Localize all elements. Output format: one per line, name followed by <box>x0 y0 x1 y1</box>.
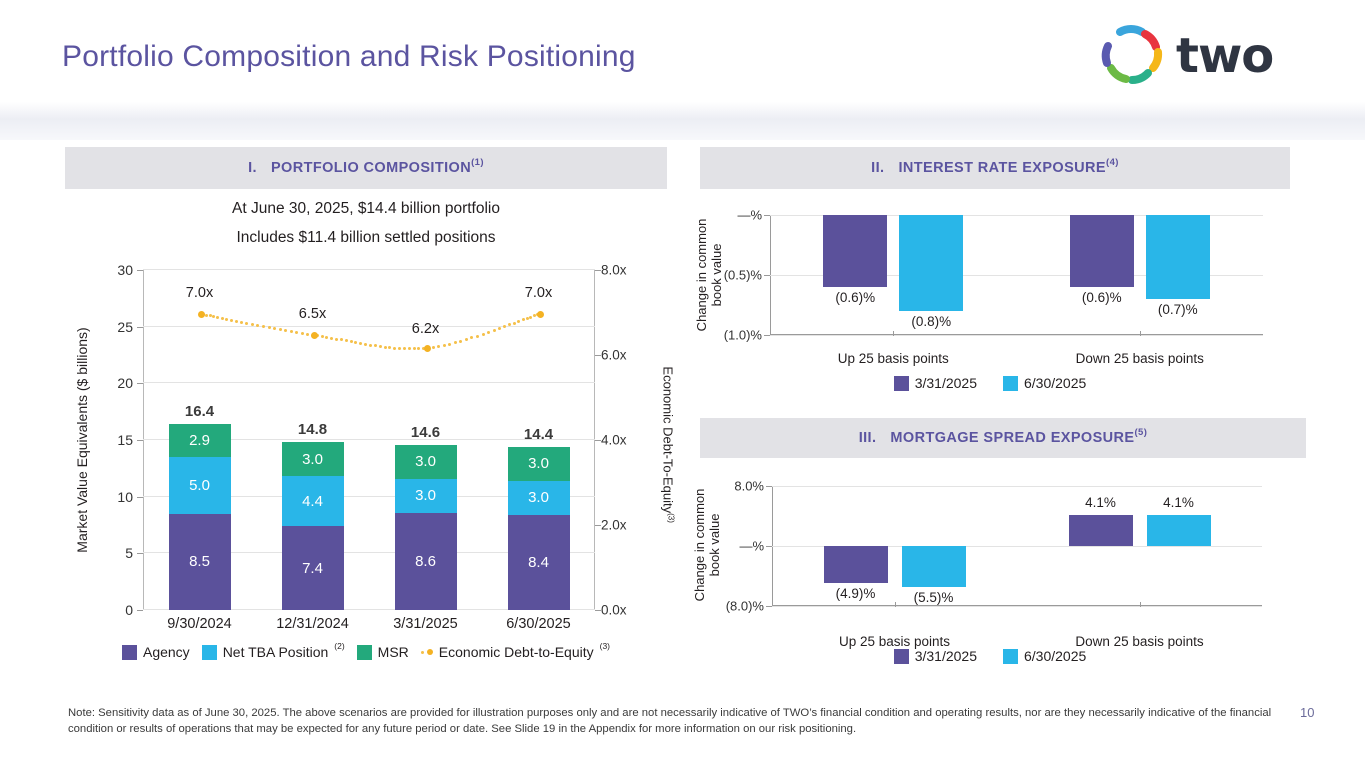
debt-to-equity-dot <box>240 321 243 324</box>
bar-value-label: (4.9)% <box>821 586 891 601</box>
debt-to-equity-dot <box>290 330 293 333</box>
debt-to-equity-dot <box>437 345 440 348</box>
bar-segment-msr: 3.0 <box>282 442 344 476</box>
bar-total-label: 14.6 <box>395 424 457 441</box>
y-tick-label-left: 5 <box>93 545 133 561</box>
dotted-line-swatch-icon <box>421 649 433 655</box>
debt-to-equity-dot <box>251 323 254 326</box>
legend-item-6/30/2025[interactable]: 6/30/2025 <box>1003 375 1086 391</box>
debt-to-equity-dot <box>513 322 516 325</box>
x-tick-mark <box>1140 602 1141 607</box>
y-tick-label-left: 10 <box>93 489 133 505</box>
color-swatch-icon <box>122 645 137 660</box>
y-tick-label-right: 0.0x <box>601 603 651 618</box>
two-logo-mark <box>1098 24 1168 86</box>
y-tick-mark <box>766 606 772 607</box>
y-tick-mark-right <box>595 525 601 526</box>
debt-to-equity-dot <box>487 331 490 334</box>
bar-q2 <box>1147 515 1211 546</box>
debt-to-equity-dot <box>454 341 457 344</box>
debt-to-equity-dot <box>526 317 529 320</box>
debt-to-equity-marker <box>311 332 318 339</box>
debt-to-equity-dot <box>465 338 468 341</box>
bar-q1 <box>824 546 888 583</box>
color-swatch-icon <box>1003 376 1018 391</box>
page-title: Portfolio Composition and Risk Positioni… <box>62 40 636 74</box>
debt-to-equity-dot <box>325 336 328 339</box>
section-heading-text: PORTFOLIO COMPOSITION <box>271 160 471 176</box>
interest-rate-exposure-chart: Change in common book value —%(0.5)%(1.0… <box>690 205 1290 390</box>
y-tick-label-right: 6.0x <box>601 348 651 363</box>
color-swatch-icon <box>1003 649 1018 664</box>
legend-label: MSR <box>378 644 409 660</box>
y-axis-right-footnote-ref: (3) <box>667 513 676 523</box>
debt-to-equity-dot <box>529 316 532 319</box>
legend-label: Economic Debt-to-Equity <box>439 644 594 660</box>
section-numeral: I. <box>248 160 257 176</box>
debt-to-equity-dot <box>273 327 276 330</box>
portfolio-subtitle-line1: At June 30, 2025, $14.4 billion portfoli… <box>65 200 667 218</box>
debt-to-equity-dot <box>432 346 435 349</box>
x-tick-label: 3/31/2025 <box>366 616 486 632</box>
slide-footnote: Note: Sensitivity data as of June 30, 20… <box>68 705 1290 738</box>
section-numeral: III. <box>859 430 877 446</box>
section-header-interest-rate-exposure: II. INTEREST RATE EXPOSURE (4) <box>700 147 1290 189</box>
debt-to-equity-dot <box>443 344 446 347</box>
legend-label: Net TBA Position <box>223 644 329 660</box>
bar-segment-tba: 3.0 <box>508 481 570 515</box>
portfolio-composition-chart: Market Value Equivalents ($ billions) Ec… <box>65 262 667 682</box>
debt-to-equity-dot <box>522 318 525 321</box>
bar-segment-agency: 7.4 <box>282 526 344 610</box>
y-tick-label-left: 15 <box>93 432 133 448</box>
bar-segment-msr: 2.9 <box>169 424 231 457</box>
y-tick-mark <box>764 275 770 276</box>
bar-total-label: 14.4 <box>508 426 570 443</box>
y-axis-label-right-text: Economic Debt-To-Equity <box>660 366 675 513</box>
debt-to-equity-dot <box>476 335 479 338</box>
debt-to-equity-dot <box>359 342 362 345</box>
header-gradient-band <box>0 102 1365 140</box>
x-tick-label: 9/30/2024 <box>140 616 260 632</box>
debt-to-equity-label: 6.5x <box>278 306 348 322</box>
debt-to-equity-dot <box>408 347 411 350</box>
portfolio-chart-legend: AgencyNet TBA Position(2)MSREconomic Deb… <box>65 644 667 660</box>
y-tick-mark-right <box>595 270 601 271</box>
legend-label: 6/30/2025 <box>1024 648 1086 664</box>
bar-segment-tba: 4.4 <box>282 476 344 526</box>
y-tick-label: 8.0% <box>704 479 764 494</box>
bar-value-label: (0.7)% <box>1143 302 1213 317</box>
debt-to-equity-dot <box>517 320 520 323</box>
debt-to-equity-dot <box>384 346 387 349</box>
legend-label: 3/31/2025 <box>915 648 977 664</box>
y-tick-mark-right <box>595 610 601 611</box>
debt-to-equity-dot <box>354 341 357 344</box>
debt-to-equity-dot <box>470 336 473 339</box>
left-axis-line <box>143 270 144 610</box>
x-tick-mark <box>893 331 894 336</box>
section-numeral: II. <box>871 160 884 176</box>
bar-value-label: (0.8)% <box>896 314 966 329</box>
bar-total-label: 14.8 <box>282 421 344 438</box>
bar-total-label: 16.4 <box>169 403 231 420</box>
debt-to-equity-dot <box>398 347 401 350</box>
bar-q1 <box>1069 515 1133 546</box>
legend-label: 6/30/2025 <box>1024 375 1086 391</box>
color-swatch-icon <box>357 645 372 660</box>
debt-to-equity-dot <box>379 345 382 348</box>
y-tick-label: —% <box>702 208 762 223</box>
bar-value-label: 4.1% <box>1144 495 1214 510</box>
section-header-mortgage-spread-exposure: III. MORTGAGE SPREAD EXPOSURE (5) <box>700 418 1306 458</box>
y-tick-label-right: 4.0x <box>601 433 651 448</box>
legend-footnote-ref: (2) <box>334 641 344 651</box>
legend-item-dots[interactable]: Economic Debt-to-Equity(3) <box>421 644 610 660</box>
debt-to-equity-dot <box>284 329 287 332</box>
debt-to-equity-dot <box>459 340 462 343</box>
bar-segment-msr: 3.0 <box>508 447 570 481</box>
x-category-label: Up 25 basis points <box>803 351 983 366</box>
debt-to-equity-dot <box>340 338 343 341</box>
bar-q1 <box>1070 215 1134 287</box>
debt-to-equity-marker <box>537 311 544 318</box>
debt-to-equity-dot <box>216 316 219 319</box>
mortgage-spread-exposure-chart: Change in common book value 8.0%—%(8.0)%… <box>690 478 1290 648</box>
debt-to-equity-dot <box>230 319 233 322</box>
legend-item-tba[interactable]: Net TBA Position(2) <box>202 644 345 660</box>
page-number: 10 <box>1300 705 1314 720</box>
debt-to-equity-label: 6.2x <box>391 321 461 337</box>
legend-label: Agency <box>143 644 190 660</box>
x-tick-mark <box>1140 331 1141 336</box>
plot-area: 8.0%—%(8.0)%(4.9)%(5.5)%Up 25 basis poin… <box>772 486 1262 606</box>
color-swatch-icon <box>202 645 217 660</box>
legend-item-3/31/2025[interactable]: 3/31/2025 <box>894 375 977 391</box>
y-tick-label-right: 8.0x <box>601 263 651 278</box>
debt-to-equity-dot <box>262 325 265 328</box>
debt-to-equity-dot <box>493 329 496 332</box>
x-tick-label: 12/31/2024 <box>253 616 373 632</box>
company-logo: two <box>1098 24 1308 86</box>
footnote-ref: (5) <box>1134 427 1147 438</box>
footnote-ref: (4) <box>1106 157 1119 168</box>
y-tick-label: (0.5)% <box>702 268 762 283</box>
debt-to-equity-dot <box>369 344 372 347</box>
y-tick-label-left: 20 <box>93 375 133 391</box>
debt-to-equity-dot <box>301 332 304 335</box>
bar-segment-agency: 8.4 <box>508 515 570 610</box>
mortgage-spread-legend: 3/31/20256/30/2025 <box>690 645 1290 667</box>
debt-to-equity-dot <box>268 326 271 329</box>
debt-to-equity-dot <box>279 328 282 331</box>
portfolio-subtitle-line2: Includes $11.4 billion settled positions <box>65 229 667 247</box>
x-tick-mark <box>895 602 896 607</box>
bar-segment-agency: 8.6 <box>395 513 457 610</box>
y-tick-mark <box>766 486 772 487</box>
debt-to-equity-dot <box>330 337 333 340</box>
gridline <box>143 326 595 327</box>
bar-q1 <box>823 215 887 287</box>
debt-to-equity-dot <box>225 318 228 321</box>
legend-label: 3/31/2025 <box>915 375 977 391</box>
section-heading-text: INTEREST RATE EXPOSURE <box>898 160 1106 176</box>
bar-value-label: 4.1% <box>1066 495 1136 510</box>
y-tick-label: (8.0)% <box>704 599 764 614</box>
debt-to-equity-marker <box>198 311 205 318</box>
debt-to-equity-dot <box>295 331 298 334</box>
gridline <box>772 486 1262 487</box>
y-tick-label: —% <box>704 539 764 554</box>
interest-rate-legend: 3/31/20256/30/2025 <box>690 372 1290 394</box>
bar-value-label: (0.6)% <box>1067 290 1137 305</box>
section-header-portfolio-composition: I. PORTFOLIO COMPOSITION (1) <box>65 147 667 189</box>
bar-segment-tba: 5.0 <box>169 457 231 514</box>
y-tick-label-right: 2.0x <box>601 518 651 533</box>
logo-wordmark: two <box>1176 28 1273 84</box>
debt-to-equity-dot <box>209 314 212 317</box>
y-tick-mark-right <box>595 440 601 441</box>
bar-q2 <box>899 215 963 311</box>
bar-value-label: (0.6)% <box>820 290 890 305</box>
debt-to-equity-label: 7.0x <box>165 285 235 301</box>
legend-item-agency[interactable]: Agency <box>122 644 190 660</box>
debt-to-equity-dot <box>403 347 406 350</box>
bar-q2 <box>1146 215 1210 299</box>
x-category-label: Down 25 basis points <box>1050 351 1230 366</box>
debt-to-equity-dot <box>374 344 377 347</box>
debt-to-equity-dot <box>417 347 420 350</box>
debt-to-equity-dot <box>388 346 391 349</box>
gridline <box>143 382 595 383</box>
plot-area: 8.55.02.916.47.44.43.014.88.63.03.014.68… <box>143 270 595 610</box>
y-tick-label-left: 30 <box>93 262 133 278</box>
debt-to-equity-dot <box>448 343 451 346</box>
y-axis-label-right: Economic Debt-To-Equity(3) <box>660 285 675 605</box>
legend-item-6/30/2025[interactable]: 6/30/2025 <box>1003 648 1086 664</box>
gridline <box>143 269 595 270</box>
y-tick-mark-left <box>137 610 143 611</box>
debt-to-equity-dot <box>393 347 396 350</box>
bar-segment-msr: 3.0 <box>395 445 457 479</box>
y-tick-label-left: 25 <box>93 319 133 335</box>
debt-to-equity-dot <box>205 314 208 317</box>
bar-q2 <box>902 546 966 587</box>
debt-to-equity-dot <box>245 322 248 325</box>
debt-to-equity-label: 7.0x <box>504 285 574 301</box>
bar-segment-tba: 3.0 <box>395 479 457 513</box>
debt-to-equity-dot <box>345 339 348 342</box>
debt-to-equity-dot <box>482 333 485 336</box>
y-axis-label-left: Market Value Equivalents ($ billions) <box>74 275 90 605</box>
y-tick-mark-right <box>595 355 601 356</box>
debt-to-equity-dot <box>306 333 309 336</box>
plot-area: —%(0.5)%(1.0)%(0.6)%(0.8)%Up 25 basis po… <box>770 215 1263 335</box>
debt-to-equity-dot <box>221 317 224 320</box>
gridline <box>772 606 1262 607</box>
debt-to-equity-dot <box>321 335 324 338</box>
x-tick-label: 6/30/2025 <box>479 616 599 632</box>
debt-to-equity-dot <box>498 327 501 330</box>
debt-to-equity-dot <box>212 315 215 318</box>
y-tick-label-left: 0 <box>93 602 133 618</box>
bar-segment-agency: 8.5 <box>169 514 231 610</box>
debt-to-equity-dot <box>364 343 367 346</box>
section-heading-text: MORTGAGE SPREAD EXPOSURE <box>890 430 1134 446</box>
debt-to-equity-dot <box>350 340 353 343</box>
color-swatch-icon <box>894 649 909 664</box>
color-swatch-icon <box>894 376 909 391</box>
debt-to-equity-dot <box>335 338 338 341</box>
y-tick-mark <box>766 546 772 547</box>
debt-to-equity-marker <box>424 345 431 352</box>
debt-to-equity-dot <box>235 320 238 323</box>
legend-item-3/31/2025[interactable]: 3/31/2025 <box>894 648 977 664</box>
legend-item-msr[interactable]: MSR <box>357 644 409 660</box>
footnote-ref: (1) <box>471 157 484 168</box>
y-tick-label: (1.0)% <box>702 328 762 343</box>
gridline <box>770 335 1263 336</box>
right-axis-line <box>594 270 595 610</box>
legend-footnote-ref: (3) <box>600 641 610 651</box>
debt-to-equity-dot <box>503 325 506 328</box>
y-tick-mark <box>764 335 770 336</box>
debt-to-equity-dot <box>413 347 416 350</box>
bar-value-label: (5.5)% <box>899 590 969 605</box>
y-tick-mark <box>764 215 770 216</box>
